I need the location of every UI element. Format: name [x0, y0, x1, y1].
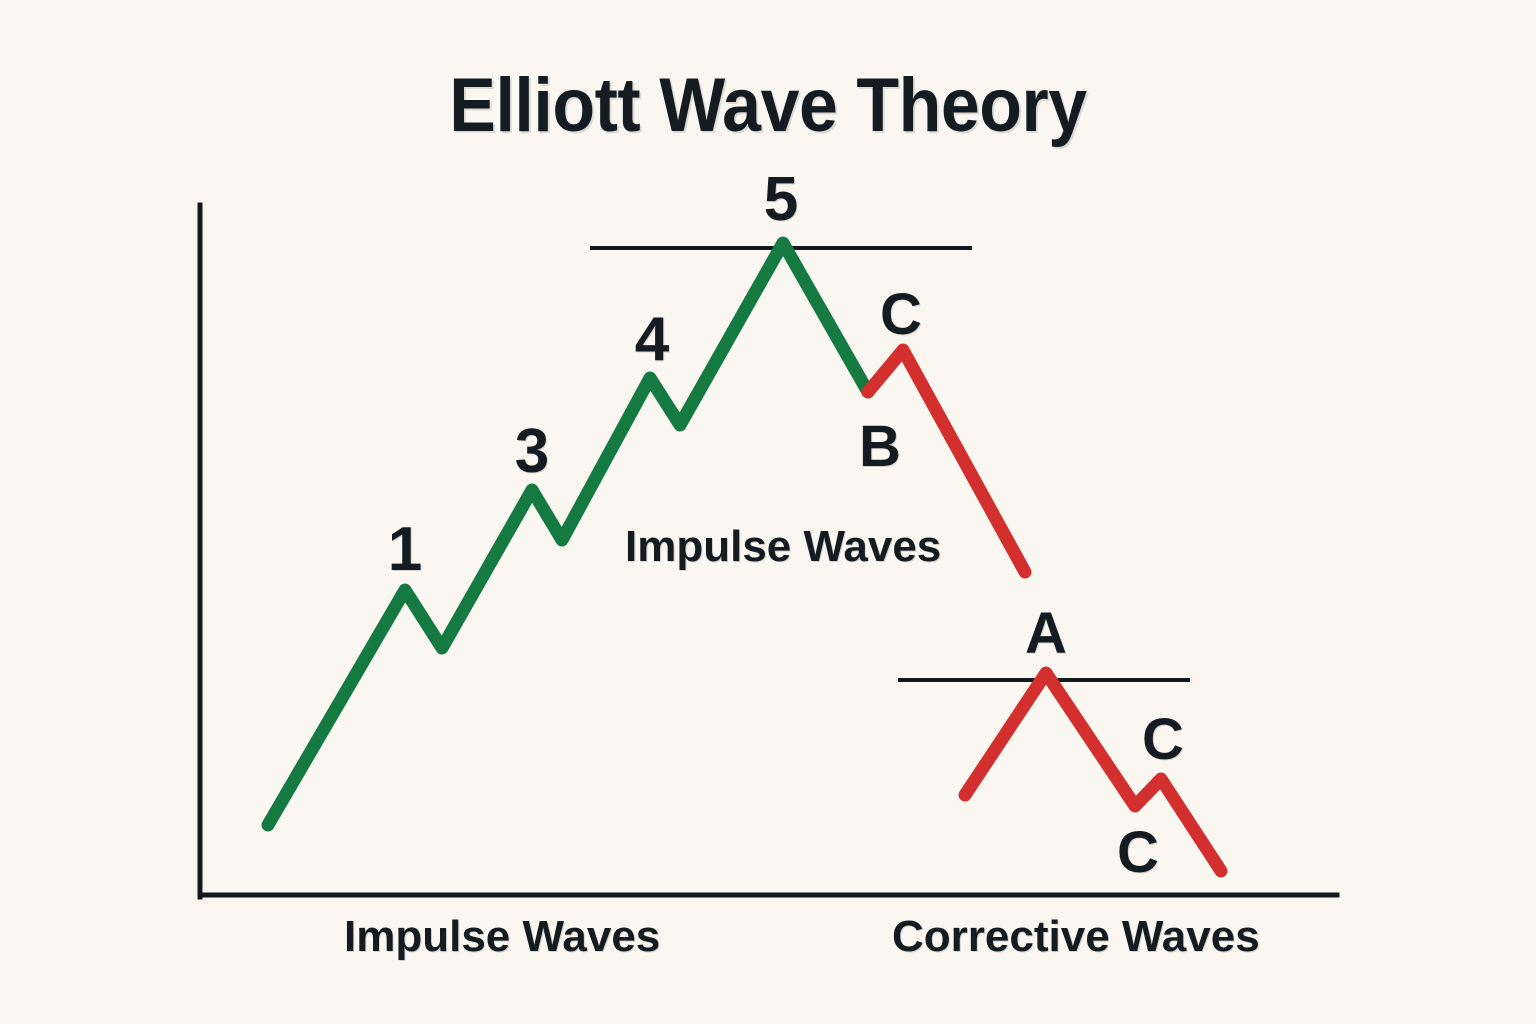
- label-1: 1: [388, 519, 422, 581]
- chart-canvas: Elliott Wave Theory 1345CBACC Impulse Wa…: [0, 0, 1536, 1024]
- label-b: B: [859, 418, 901, 476]
- impulse-waves-caption: Impulse Waves: [344, 915, 660, 959]
- inner-impulse-note: Impulse Waves: [625, 525, 941, 569]
- corrective-waves-caption: Corrective Waves: [892, 915, 1260, 959]
- label-c-upper: C: [880, 286, 922, 344]
- label-5: 5: [764, 169, 798, 231]
- label-4: 4: [635, 309, 669, 371]
- label-3: 3: [515, 421, 549, 483]
- label-c-right: C: [1142, 711, 1184, 769]
- label-c-lower: C: [1117, 824, 1159, 882]
- label-a: A: [1025, 605, 1067, 663]
- wave-series-3: [965, 673, 1221, 871]
- elliott-wave-chart: [0, 0, 1536, 1024]
